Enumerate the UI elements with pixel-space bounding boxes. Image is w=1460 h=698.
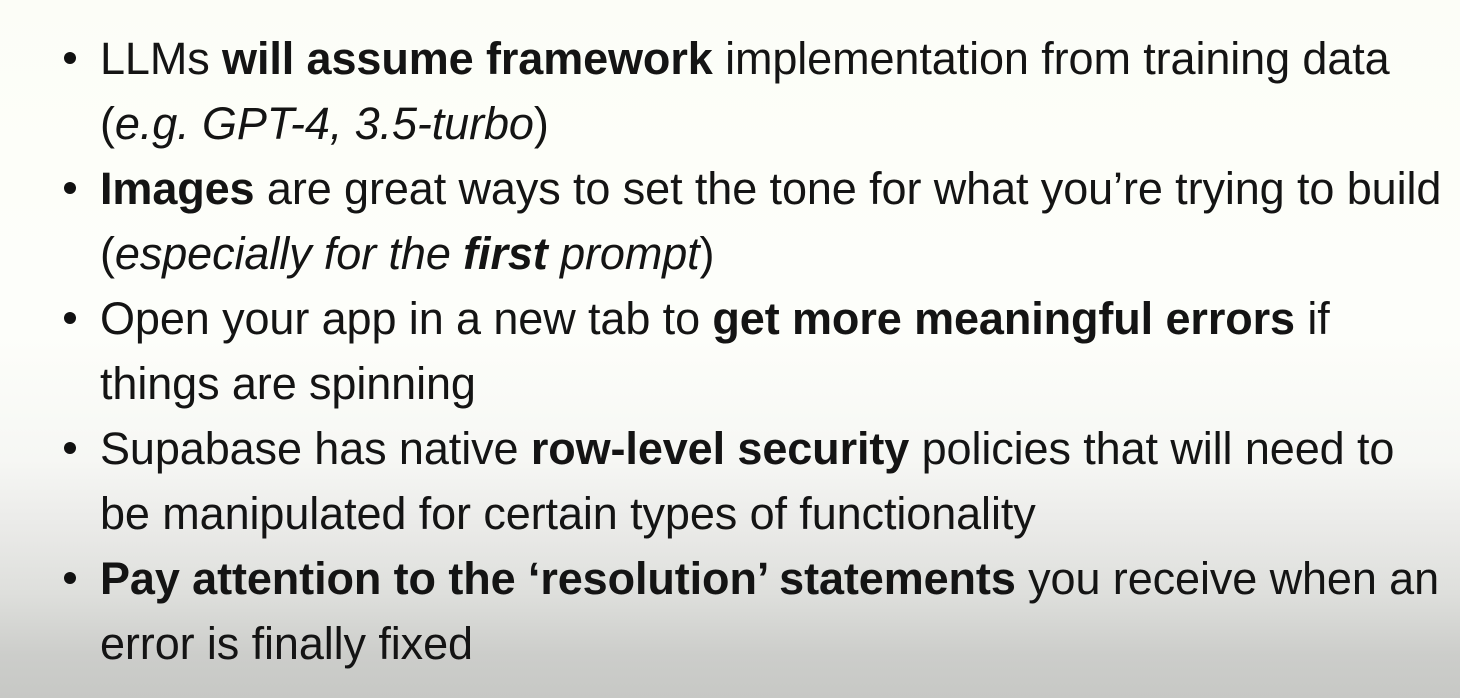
text-run-normal: Supabase has native bbox=[100, 423, 531, 474]
bullet-supabase-row-level-security: Supabase has native row-level security p… bbox=[100, 416, 1448, 546]
text-run-italic: e.g. GPT-4, 3.5-turbo bbox=[115, 98, 534, 149]
bullet-point-icon bbox=[64, 182, 76, 194]
text-run-bold-italic: first bbox=[463, 228, 548, 279]
text-run-normal: ) bbox=[700, 228, 715, 279]
bullet-point-icon bbox=[64, 442, 76, 454]
bullet-llms-assume-framework: LLMs will assume framework implementatio… bbox=[100, 26, 1448, 156]
bullet-open-app-new-tab: Open your app in a new tab to get more m… bbox=[100, 286, 1448, 416]
presentation-slide: LLMs will assume framework implementatio… bbox=[0, 0, 1460, 698]
bullet-point-icon bbox=[64, 52, 76, 64]
bullet-item: Images are great ways to set the tone fo… bbox=[0, 156, 1460, 286]
text-run-normal: Open your app in a new tab to bbox=[100, 293, 712, 344]
bullet-point-icon bbox=[64, 312, 76, 324]
bullet-item: Open your app in a new tab to get more m… bbox=[0, 286, 1460, 416]
text-run-bold: Pay attention to the ‘resolution’ statem… bbox=[100, 553, 1016, 604]
bullet-images-set-tone: Images are great ways to set the tone fo… bbox=[100, 156, 1448, 286]
bullet-list: LLMs will assume framework implementatio… bbox=[0, 0, 1460, 676]
bullet-item: Pay attention to the ‘resolution’ statem… bbox=[0, 546, 1460, 676]
bullet-point-icon bbox=[64, 572, 76, 584]
text-run-bold: Images bbox=[100, 163, 254, 214]
text-run-italic: especially for the bbox=[115, 228, 463, 279]
text-run-bold: get more meaningful errors bbox=[712, 293, 1295, 344]
bullet-item: LLMs will assume framework implementatio… bbox=[0, 26, 1460, 156]
text-run-bold: will assume framework bbox=[222, 33, 713, 84]
bullet-resolution-statements: Pay attention to the ‘resolution’ statem… bbox=[100, 546, 1448, 676]
text-run-normal: LLMs bbox=[100, 33, 222, 84]
text-run-normal: ) bbox=[534, 98, 549, 149]
text-run-italic: prompt bbox=[548, 228, 700, 279]
bullet-item: Supabase has native row-level security p… bbox=[0, 416, 1460, 546]
text-run-bold: row-level security bbox=[531, 423, 909, 474]
